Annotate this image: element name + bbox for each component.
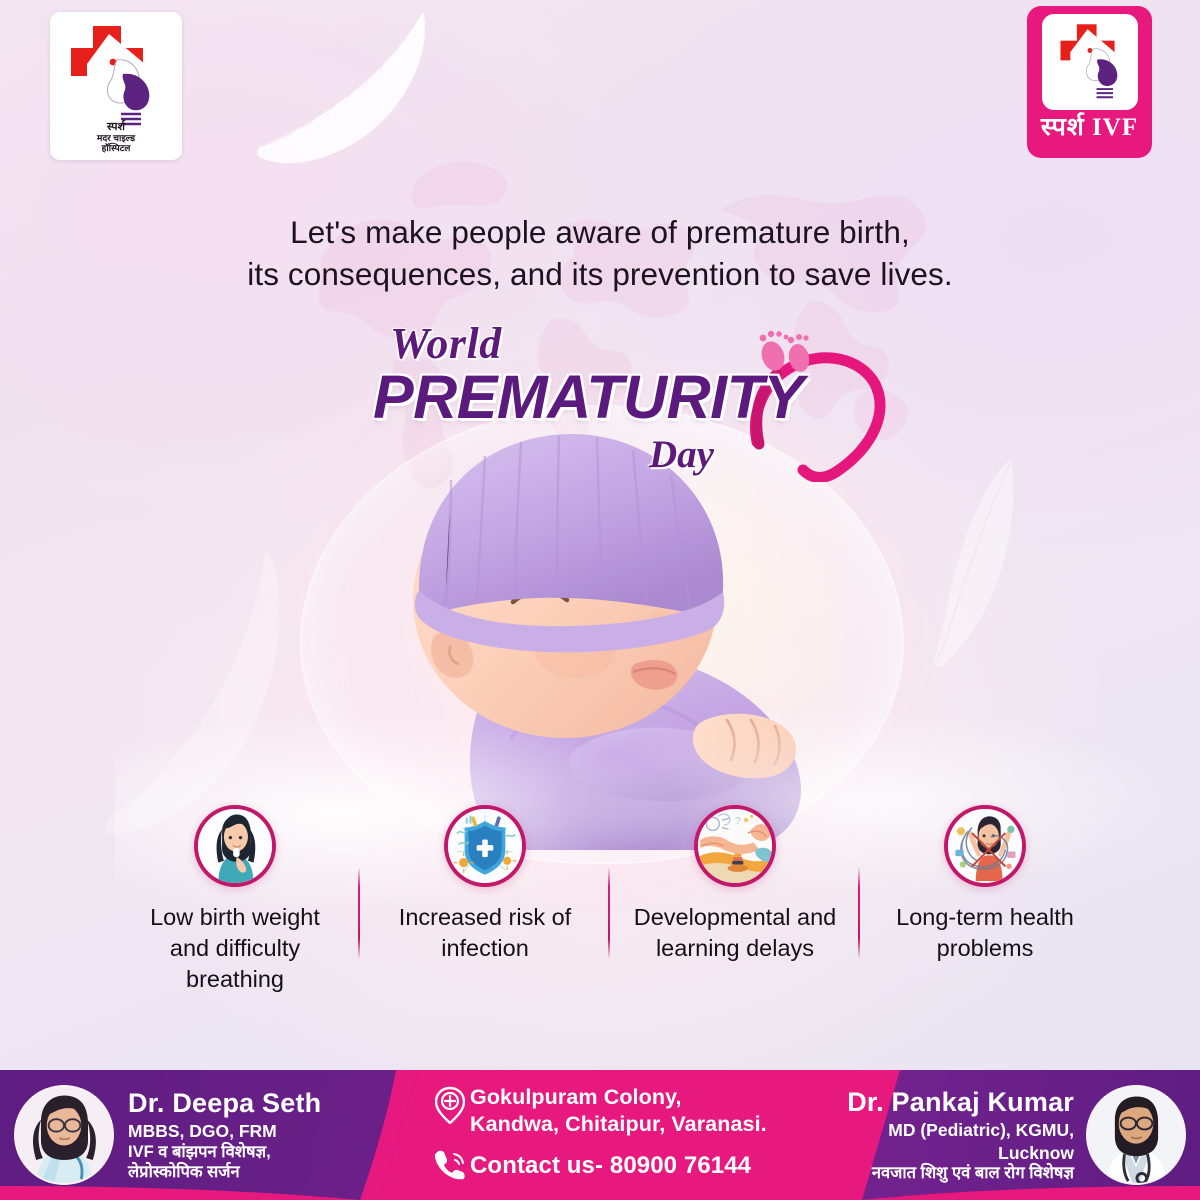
doctor-left-card: Dr. Deepa Seth MBBS, DGO, FRM IVF व बांझ… [14, 1070, 321, 1200]
title-day: Day [649, 432, 714, 477]
doctor-left-name: Dr. Deepa Seth [128, 1088, 321, 1119]
poster-canvas: स्पर्श मदर चाइल्ड हॉस्पिटल स्पर्श IVF Le… [0, 0, 1200, 1200]
svg-text:हॉस्पिटल: हॉस्पिटल [101, 142, 132, 153]
phone-row[interactable]: Contact us- 80900 76144 [430, 1148, 830, 1184]
doctor-left-specialty-line-2: लेप्रोस्कोपिक सर्जन [128, 1163, 321, 1182]
feature-label: Developmental and learning delays [633, 902, 838, 964]
doctor-left-details: Dr. Deepa Seth MBBS, DGO, FRM IVF व बांझ… [128, 1088, 321, 1182]
shield-infection-protection-icon [444, 805, 526, 887]
doctor-right-degrees-line-2: Lucknow [847, 1143, 1074, 1163]
hospital-logo-left: स्पर्श मदर चाइल्ड हॉस्पिटल [50, 12, 182, 160]
feature-label: Low birth weight and difficulty breathin… [133, 902, 338, 995]
feature-label: Increased risk of infection [383, 902, 588, 964]
location-pin-icon [430, 1084, 470, 1124]
tagline: Let's make people aware of premature bir… [0, 212, 1200, 295]
doctor-right-name: Dr. Pankaj Kumar [847, 1087, 1074, 1118]
svg-text:?: ? [735, 816, 741, 827]
tagline-line-2: its consequences, and its prevention to … [0, 254, 1200, 296]
doctor-right-card: Dr. Pankaj Kumar MD (Pediatric), KGMU, L… [847, 1070, 1186, 1200]
developmental-learning-icon: ? [694, 805, 776, 887]
tagline-line-1: Let's make people aware of premature bir… [0, 212, 1200, 254]
ivf-logo-card [1042, 14, 1138, 110]
doctor-left-specialty-line-1: IVF व बांझपन विशेषज्ञ, [128, 1143, 321, 1162]
feature-item: Increased risk of infection [360, 805, 610, 964]
ivf-logo-right: स्पर्श IVF [1027, 6, 1152, 158]
feature-list: Low birth weight and difficulty breathin… [110, 805, 1110, 1010]
address-line-2: Kandwa, Chitaipur, Varanasi. [470, 1111, 767, 1138]
ivf-logo-text: स्पर्श IVF [1041, 115, 1138, 140]
long-term-health-problems-icon [944, 805, 1026, 887]
feature-item: Long-term health problems [860, 805, 1110, 964]
woman-breathing-difficulty-icon [194, 805, 276, 887]
svg-text:स्पर्श: स्पर्श [106, 119, 126, 133]
feature-item: Low birth weight and difficulty breathin… [110, 805, 360, 995]
doctor-left-degrees: MBBS, DGO, FRM [128, 1121, 321, 1141]
feature-label: Long-term health problems [883, 902, 1088, 964]
address-row: Gokulpuram Colony, Kandwa, Chitaipur, Va… [430, 1084, 830, 1138]
phone-text[interactable]: Contact us- 80900 76144 [470, 1151, 751, 1181]
title-prematurity: PREMATURITY [373, 362, 804, 432]
doctor-right-specialty: नवजात शिशु एवं बाल रोग विशेषज्ञ [847, 1164, 1074, 1183]
address-text: Gokulpuram Colony, Kandwa, Chitaipur, Va… [470, 1084, 767, 1138]
doctor-right-degrees-line-1: MD (Pediatric), KGMU, [847, 1120, 1074, 1140]
doctor-pankaj-kumar-photo [1086, 1085, 1186, 1185]
poster-title: World PREMATURITY Day [385, 318, 905, 488]
contact-block: Gokulpuram Colony, Kandwa, Chitaipur, Va… [430, 1084, 830, 1194]
doctor-right-details: Dr. Pankaj Kumar MD (Pediatric), KGMU, L… [847, 1087, 1074, 1183]
svg-text:मदर चाइल्ड: मदर चाइल्ड [96, 133, 136, 143]
feature-item: ? Developmental and learning delays [610, 805, 860, 964]
footer-bar: Dr. Deepa Seth MBBS, DGO, FRM IVF व बांझ… [0, 1070, 1200, 1200]
doctor-deepa-seth-photo [14, 1085, 114, 1185]
address-line-1: Gokulpuram Colony, [470, 1084, 767, 1111]
phone-icon [430, 1148, 470, 1184]
